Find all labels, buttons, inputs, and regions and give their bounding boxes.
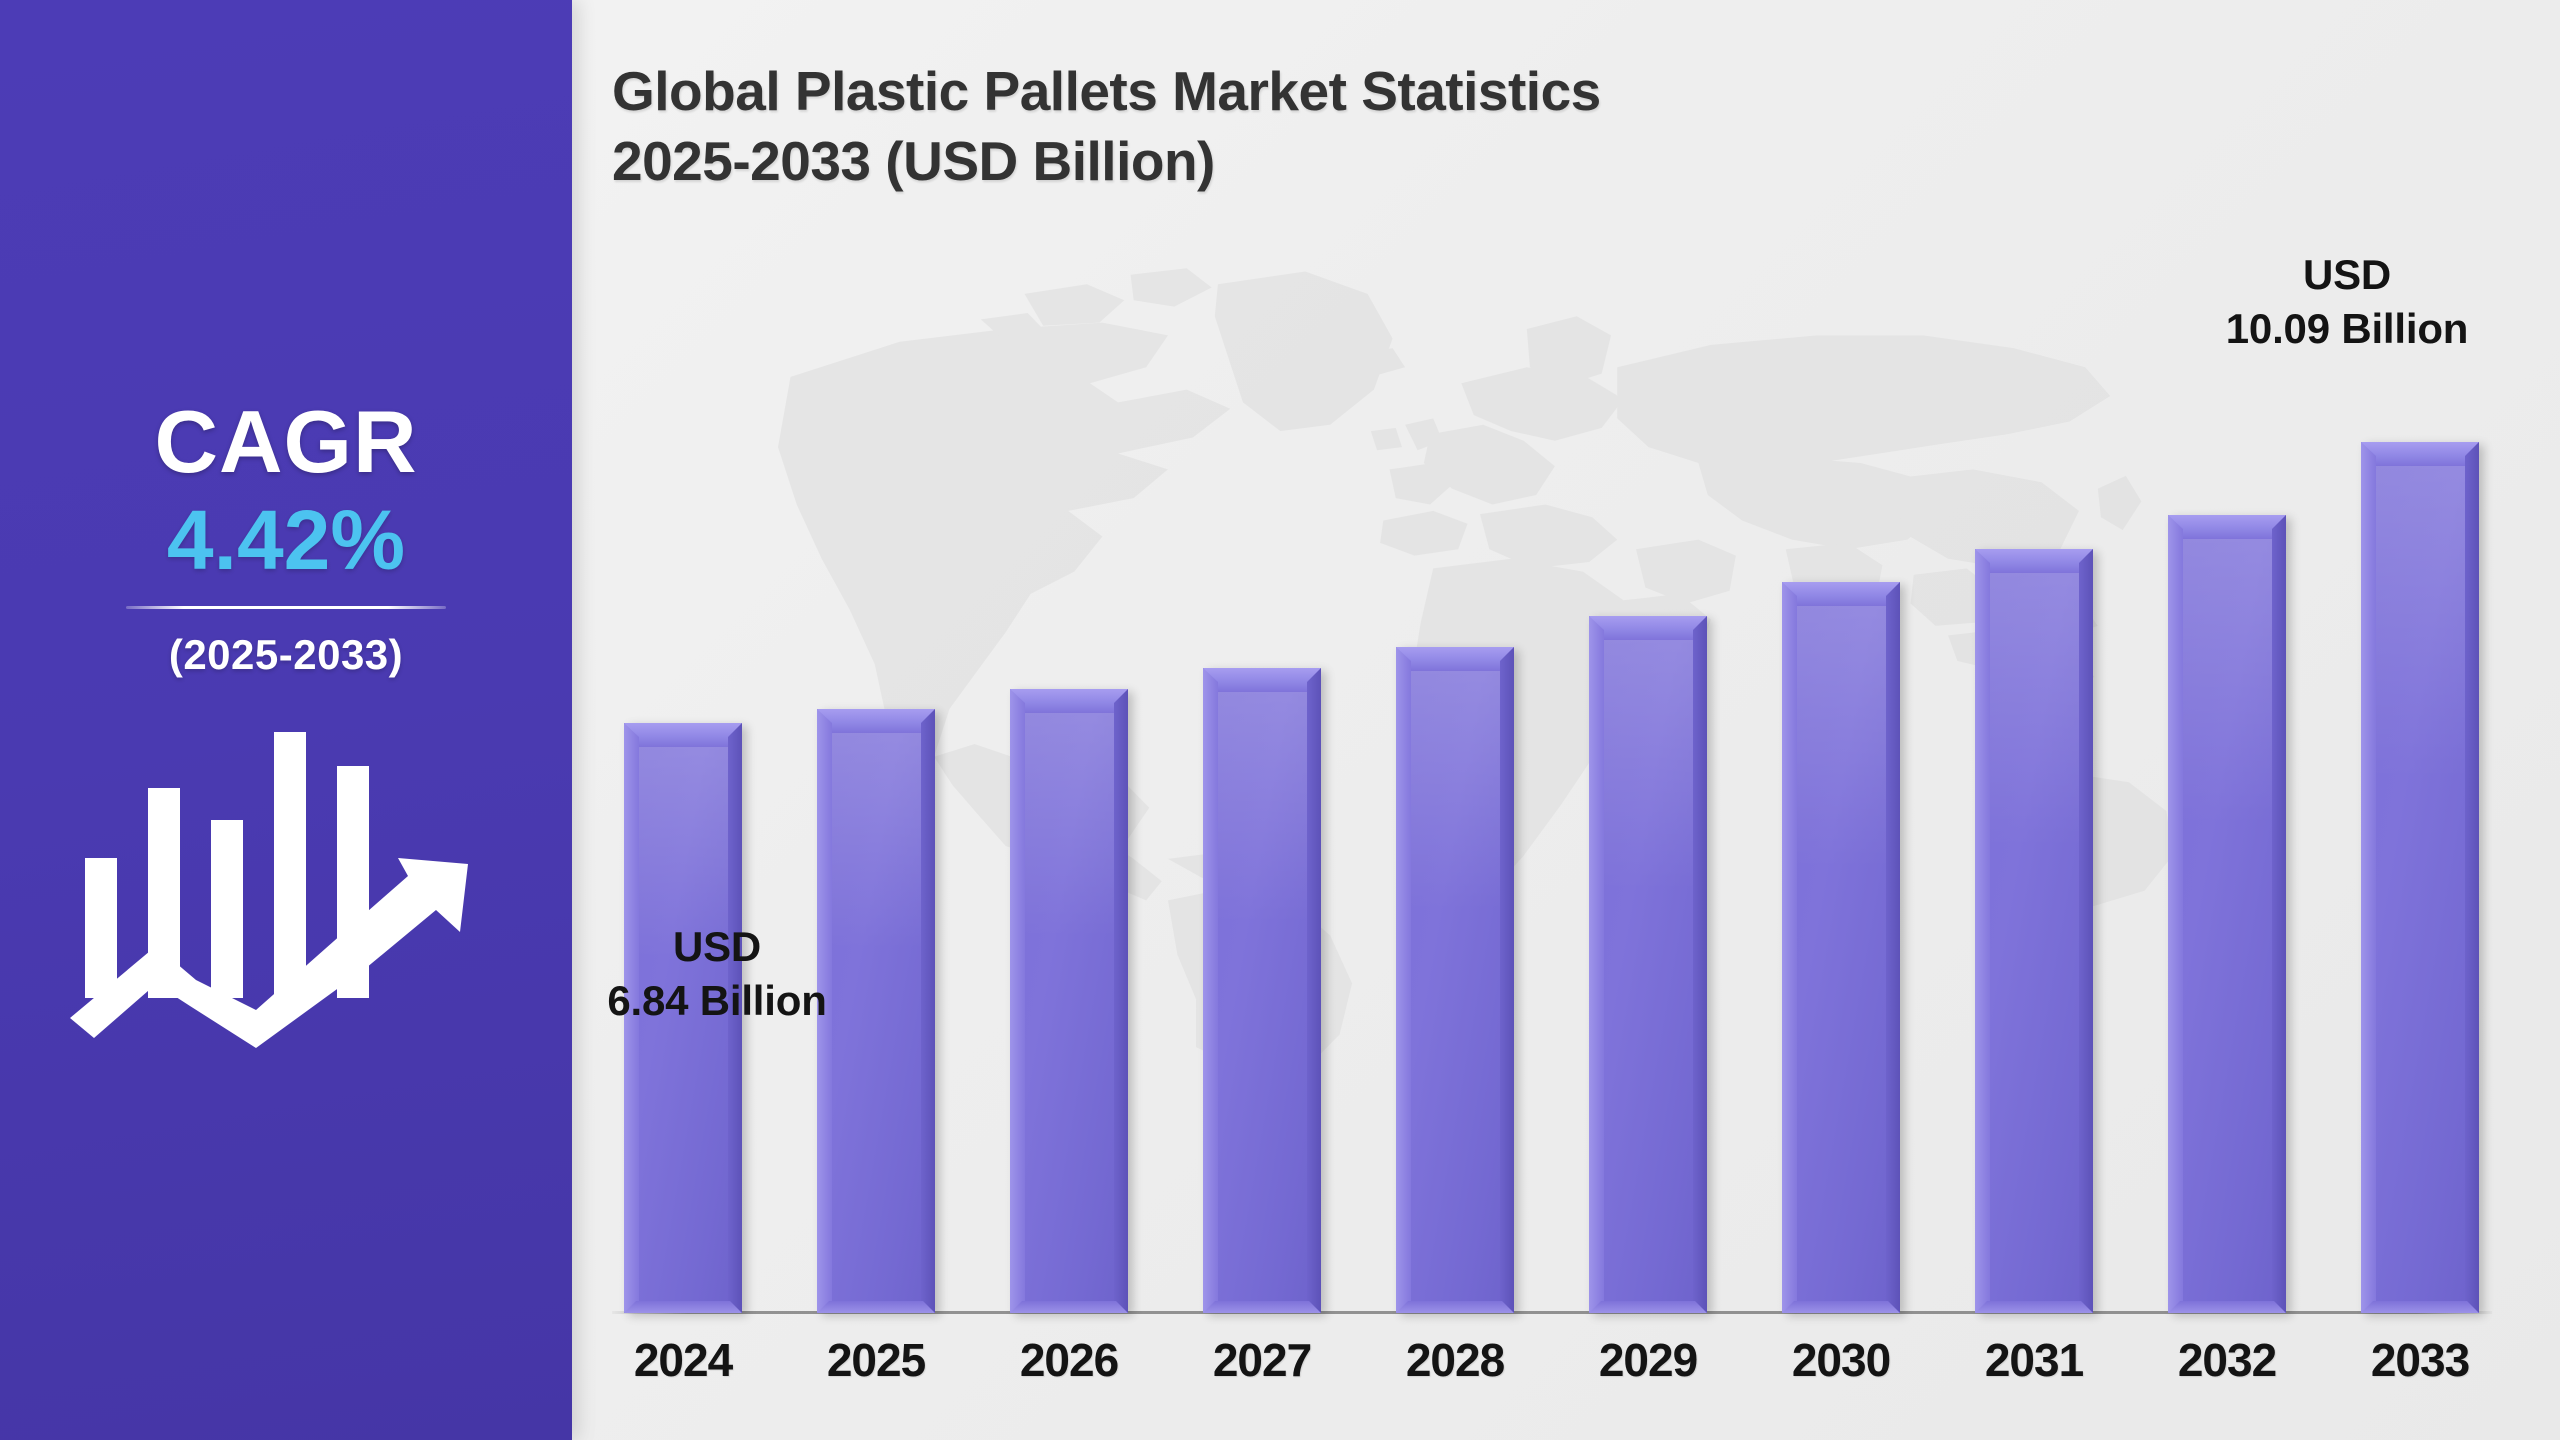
bar-top-bevel — [2361, 442, 2479, 466]
bar-bottom-bevel — [1782, 1301, 1900, 1313]
cagr-divider — [126, 606, 446, 609]
x-tick-2024: 2024 — [634, 1333, 732, 1387]
bar-bottom-bevel — [1396, 1301, 1514, 1313]
bar-top-bevel — [2168, 515, 2286, 539]
bar-2028 — [1396, 647, 1514, 1313]
infographic-root: CAGR 4.42% (2025-2033) Global Plastic Pa… — [0, 0, 2560, 1440]
title-line-1: Global Plastic Pallets Market Statistics — [612, 56, 2112, 126]
bar-gloss — [1604, 640, 1693, 891]
bar-2032 — [2168, 515, 2286, 1313]
bar-right-bevel — [2079, 549, 2093, 1313]
bar-gloss — [2183, 539, 2272, 826]
x-tick-2029: 2029 — [1599, 1333, 1697, 1387]
title-line-2: 2025-2033 (USD Billion) — [612, 126, 2112, 196]
bar-bottom-bevel — [817, 1301, 935, 1313]
cagr-period-label: (2025-2033) — [0, 631, 572, 679]
x-tick-2026: 2026 — [1020, 1333, 1118, 1387]
bar-top-bevel — [1010, 689, 1128, 713]
bar-right-bevel — [1886, 582, 1900, 1313]
page-title: Global Plastic Pallets Market Statistics… — [612, 56, 2112, 197]
bar-gloss — [2376, 466, 2465, 780]
bar-bottom-bevel — [1975, 1301, 2093, 1313]
bar-left-bevel — [1203, 668, 1218, 1313]
x-tick-2032: 2032 — [2178, 1333, 2276, 1387]
bar-right-bevel — [2465, 442, 2479, 1313]
bar-top-bevel — [1782, 582, 1900, 606]
bar-left-bevel — [1396, 647, 1411, 1313]
x-tick-2033: 2033 — [2371, 1333, 2469, 1387]
bar-top-bevel — [1396, 647, 1514, 671]
bar-right-bevel — [1500, 647, 1514, 1313]
bar-2029 — [1589, 616, 1707, 1313]
bar-gloss — [1990, 573, 2079, 848]
bar-right-bevel — [1114, 689, 1128, 1313]
cagr-sidebar-panel: CAGR 4.42% (2025-2033) — [0, 0, 572, 1440]
bar-2030 — [1782, 582, 1900, 1313]
bar-top-bevel — [1589, 616, 1707, 640]
bar-gloss — [1218, 692, 1307, 924]
bar-top-bevel — [1975, 549, 2093, 573]
first-value-callout: USD 6.84 Billion — [592, 920, 842, 1028]
bar-left-bevel — [2361, 442, 2376, 1313]
bar-bottom-bevel — [1203, 1301, 1321, 1313]
bar-chart-plot: 2024202520262027202820292030203120322033 — [572, 0, 2560, 1440]
bar-gloss — [1411, 671, 1500, 911]
x-tick-2028: 2028 — [1406, 1333, 1504, 1387]
bar-left-bevel — [1010, 689, 1025, 1313]
bar-top-bevel — [1203, 668, 1321, 692]
bar-left-bevel — [1589, 616, 1604, 1313]
bar-right-bevel — [921, 709, 935, 1313]
bar-right-bevel — [2272, 515, 2286, 1313]
bar-bottom-bevel — [1010, 1301, 1128, 1313]
x-tick-2027: 2027 — [1213, 1333, 1311, 1387]
bar-left-bevel — [1782, 582, 1797, 1313]
bar-top-bevel — [817, 709, 935, 733]
bar-2031 — [1975, 549, 2093, 1313]
callout-currency: USD — [592, 920, 842, 974]
bar-top-bevel — [624, 723, 742, 747]
bar-2027 — [1203, 668, 1321, 1313]
callout-amount: 10.09 Billion — [2222, 302, 2472, 356]
bar-gloss — [832, 733, 921, 950]
x-tick-2031: 2031 — [1985, 1333, 2083, 1387]
bar-gloss — [1797, 606, 1886, 869]
last-value-callout: USD 10.09 Billion — [2222, 248, 2472, 356]
x-tick-2030: 2030 — [1792, 1333, 1890, 1387]
growth-bar-chart-arrow-icon — [60, 718, 510, 1048]
bar-left-bevel — [1975, 549, 1990, 1313]
bar-2026 — [1010, 689, 1128, 1313]
cagr-value: 4.42% — [0, 496, 572, 584]
x-tick-2025: 2025 — [827, 1333, 925, 1387]
callout-currency: USD — [2222, 248, 2472, 302]
bar-right-bevel — [1693, 616, 1707, 1313]
bar-bottom-bevel — [2168, 1301, 2286, 1313]
cagr-label: CAGR — [0, 398, 572, 486]
bar-bottom-bevel — [2361, 1301, 2479, 1313]
cagr-block: CAGR 4.42% (2025-2033) — [0, 398, 572, 679]
bar-right-bevel — [1307, 668, 1321, 1313]
bar-gloss — [1025, 713, 1114, 938]
bar-bottom-bevel — [1589, 1301, 1707, 1313]
bar-bottom-bevel — [624, 1301, 742, 1313]
bar-2033 — [2361, 442, 2479, 1313]
callout-amount: 6.84 Billion — [592, 974, 842, 1028]
bar-left-bevel — [2168, 515, 2183, 1313]
